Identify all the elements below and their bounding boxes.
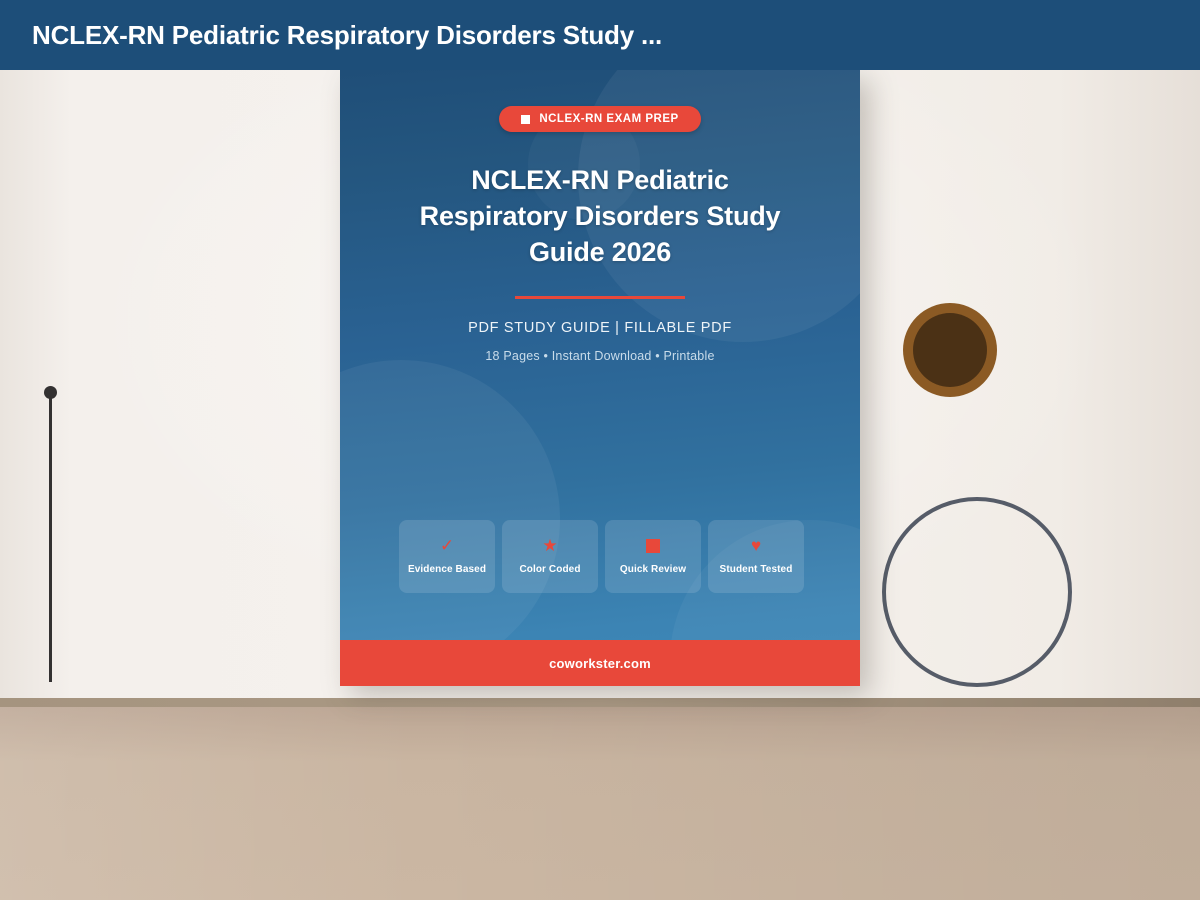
exam-prep-badge: NCLEX-RN EXAM PREP [499,106,700,132]
website-label: coworkster.com [549,656,651,671]
badge-label: NCLEX-RN EXAM PREP [539,113,678,125]
check-icon: ✓ [440,538,454,553]
desk-front-edge [0,698,1200,707]
title-divider [515,296,685,299]
app-header-bar: NCLEX-RN Pediatric Respiratory Disorders… [0,0,1200,70]
square-icon [646,538,660,553]
pen-cap-icon [44,386,57,399]
circle-outline-icon [882,497,1072,687]
feature-card-student-tested: ♥ Student Tested [708,520,804,593]
feature-label: Student Tested [720,564,793,575]
heart-icon: ♥ [751,538,761,553]
star-icon: ★ [542,538,557,553]
coffee-liquid [913,313,987,387]
format-line: PDF STUDY GUIDE | FILLABLE PDF [468,320,732,336]
feature-label: Color Coded [519,564,580,575]
poster-footer: coworkster.com [340,640,860,686]
feature-label: Quick Review [620,564,686,575]
feature-card-color-coded: ★ Color Coded [502,520,598,593]
meta-line: 18 Pages • Instant Download • Printable [485,349,714,363]
feature-label: Evidence Based [408,564,486,575]
poster-content: NCLEX-RN EXAM PREP NCLEX-RN Pediatric Re… [340,70,860,686]
pen-icon [49,390,52,682]
page-title: NCLEX-RN Pediatric Respiratory Disorders… [32,20,662,51]
scene-stage: NCLEX-RN EXAM PREP NCLEX-RN Pediatric Re… [0,70,1200,900]
square-icon [521,115,530,124]
feature-card-quick-review: Quick Review [605,520,701,593]
feature-card-list: ✓ Evidence Based ★ Color Coded Quick Rev… [399,520,819,593]
study-guide-poster[interactable]: NCLEX-RN EXAM PREP NCLEX-RN Pediatric Re… [340,70,860,686]
desk-sheen [0,707,1200,900]
poster-title: NCLEX-RN Pediatric Respiratory Disorders… [400,162,800,270]
feature-card-evidence-based: ✓ Evidence Based [399,520,495,593]
